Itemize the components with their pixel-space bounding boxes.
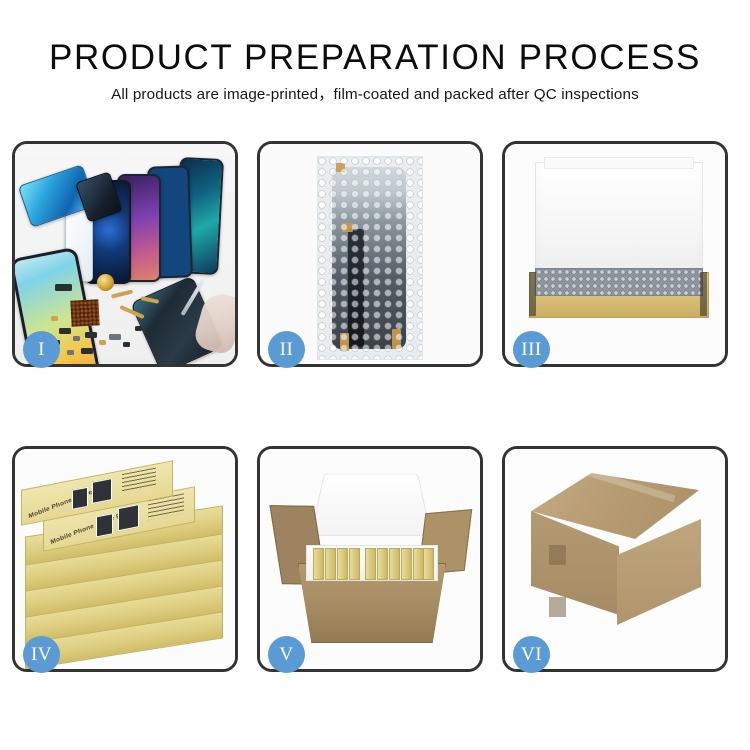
carton-tape-patch-bottom bbox=[549, 597, 566, 617]
part-chip-2 bbox=[73, 336, 80, 341]
packed-box-10 bbox=[423, 548, 434, 580]
packed-box-7 bbox=[389, 548, 400, 580]
sealed-carton-photo bbox=[505, 449, 725, 669]
part-connector-1 bbox=[99, 340, 106, 345]
page-title: PRODUCT PREPARATION PROCESS bbox=[0, 38, 750, 78]
packed-box-8 bbox=[401, 548, 412, 580]
part-chip-8 bbox=[135, 326, 142, 331]
packed-box-6 bbox=[377, 548, 388, 580]
process-step-panel-4: Mobile Phone Spare Parts Mobile Phone Sp… bbox=[12, 446, 238, 672]
packed-box-1 bbox=[313, 548, 324, 580]
panel-2-image bbox=[260, 144, 480, 364]
panel-5-image bbox=[260, 449, 480, 669]
tray-edge-right bbox=[700, 272, 707, 316]
panel-3-image bbox=[505, 144, 725, 364]
packed-box-4 bbox=[349, 548, 360, 580]
flex-cable-1 bbox=[111, 289, 133, 298]
foam-insert-wall bbox=[306, 545, 438, 581]
box-stack: Mobile Phone Spare Parts Mobile Phone Sp… bbox=[15, 449, 235, 669]
process-step-panel-2: II bbox=[257, 141, 483, 367]
bubble-wrap-bag bbox=[317, 156, 423, 360]
box-window-front-2 bbox=[118, 504, 139, 531]
foam-lid-open bbox=[310, 474, 431, 536]
tray-edge-left bbox=[529, 272, 536, 316]
part-chip-5 bbox=[123, 342, 130, 347]
process-step-panel-1: I bbox=[12, 141, 238, 367]
process-step-panel-6: VI bbox=[502, 446, 728, 672]
bubble-wrap-texture bbox=[318, 157, 422, 359]
packed-box-5 bbox=[365, 548, 376, 580]
step-badge-1: I bbox=[23, 331, 60, 368]
packed-box-2 bbox=[325, 548, 336, 580]
speaker-coil-part bbox=[97, 274, 114, 291]
part-chip-4 bbox=[109, 334, 121, 340]
process-step-panel-3: III bbox=[502, 141, 728, 367]
process-steps-grid: I II bbox=[12, 141, 738, 672]
header: PRODUCT PREPARATION PROCESS All products… bbox=[0, 38, 750, 105]
box-window-back-1 bbox=[72, 487, 88, 510]
bubble-wrapped-contents bbox=[535, 268, 703, 296]
open-kraft-box-photo bbox=[505, 144, 725, 364]
box-window-front-1 bbox=[96, 513, 113, 537]
step-badge-4: IV bbox=[23, 636, 60, 673]
part-chip-6 bbox=[67, 350, 74, 355]
step-badge-5: V bbox=[268, 636, 305, 673]
part-strip-1 bbox=[55, 284, 72, 291]
part-chip-7 bbox=[81, 348, 93, 354]
panel-4-image: Mobile Phone Spare Parts Mobile Phone Sp… bbox=[15, 449, 235, 669]
box-description-back bbox=[122, 468, 156, 494]
phone-parts-photo bbox=[15, 144, 235, 364]
step-badge-3: III bbox=[513, 331, 550, 368]
step-badge-6: VI bbox=[513, 636, 550, 673]
process-step-panel-5: V bbox=[257, 446, 483, 672]
step-badge-2: II bbox=[268, 331, 305, 368]
box-window-back-2 bbox=[92, 478, 112, 504]
packed-box-3 bbox=[337, 548, 348, 580]
page-subtitle: All products are image-printed，film-coat… bbox=[0, 85, 750, 105]
carton-with-foam-photo bbox=[260, 449, 480, 669]
stacked-boxes-photo: Mobile Phone Spare Parts Mobile Phone Sp… bbox=[15, 449, 235, 669]
panel-6-image bbox=[505, 449, 725, 669]
panel-1-image bbox=[15, 144, 235, 364]
bubble-wrapped-screen-photo bbox=[260, 144, 480, 364]
part-connector-2 bbox=[51, 316, 58, 321]
carton-tape-patch-top bbox=[549, 545, 566, 565]
part-strip-2 bbox=[59, 328, 71, 334]
part-chip-3 bbox=[85, 332, 97, 338]
copper-mesh-part bbox=[70, 299, 99, 326]
